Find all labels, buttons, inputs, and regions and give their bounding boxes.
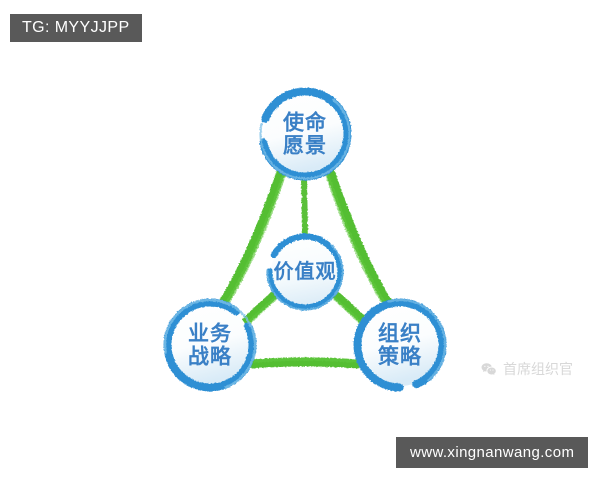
node-business-strategy[interactable] [165,300,255,390]
site-watermark-banner: www.xingnanwang.com [396,437,588,468]
wechat-credit-label: 首席组织官 [503,363,573,377]
spoke-values-to-top [304,178,305,232]
edge-bottom-left-to-bottom-right [252,359,358,364]
site-watermark-text: www.xingnanwang.com [410,444,574,461]
node-mission-vision[interactable] [261,90,350,179]
tg-watermark-text: TG: MYYJJPP [22,19,130,37]
node-values[interactable] [268,235,343,310]
tg-watermark-banner: TG: MYYJJPP [10,14,142,42]
wechat-icon [480,361,497,378]
wechat-credit: 首席组织官 [480,361,573,378]
diagram-svg [0,0,600,480]
diagram-canvas: 使命 愿景 价值观 业务 战略 组织 策略 [0,0,600,480]
node-organization-strategy[interactable] [355,300,445,390]
